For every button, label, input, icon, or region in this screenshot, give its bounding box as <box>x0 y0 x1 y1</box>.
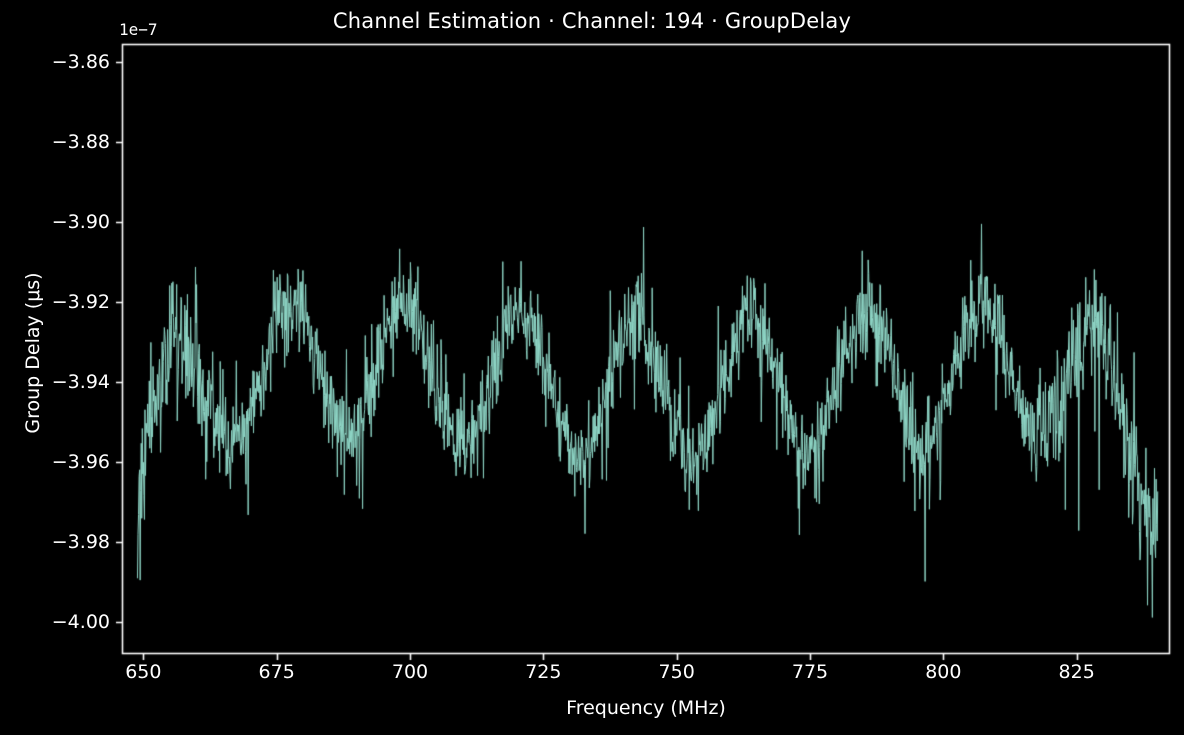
chart-title: Channel Estimation · Channel: 194 · Grou… <box>0 9 1184 33</box>
x-axis-label: Frequency (MHz) <box>122 697 1170 719</box>
y-tick-label: −3.94 <box>52 371 110 393</box>
y-tick-label: −3.88 <box>52 131 110 153</box>
x-tick-label: 775 <box>792 661 828 683</box>
y-tick-label: −4.00 <box>52 611 110 633</box>
x-tick-label: 700 <box>392 661 428 683</box>
x-tick-label: 800 <box>925 661 961 683</box>
chart-figure: Channel Estimation · Channel: 194 · Grou… <box>0 0 1184 735</box>
y-axis-offset-text: 1e−7 <box>119 20 158 39</box>
group-delay-plot-canvas <box>0 0 1184 735</box>
y-tick-label: −3.90 <box>52 211 110 233</box>
y-tick-label: −3.86 <box>52 51 110 73</box>
y-tick-label: −3.98 <box>52 531 110 553</box>
x-tick-label: 675 <box>259 661 295 683</box>
x-tick-label: 825 <box>1059 661 1095 683</box>
x-tick-label: 750 <box>659 661 695 683</box>
x-tick-label: 650 <box>125 661 161 683</box>
y-tick-label: −3.92 <box>52 291 110 313</box>
y-tick-label: −3.96 <box>52 451 110 473</box>
x-tick-label: 725 <box>525 661 561 683</box>
y-axis-label: Group Delay (μs) <box>22 223 44 483</box>
